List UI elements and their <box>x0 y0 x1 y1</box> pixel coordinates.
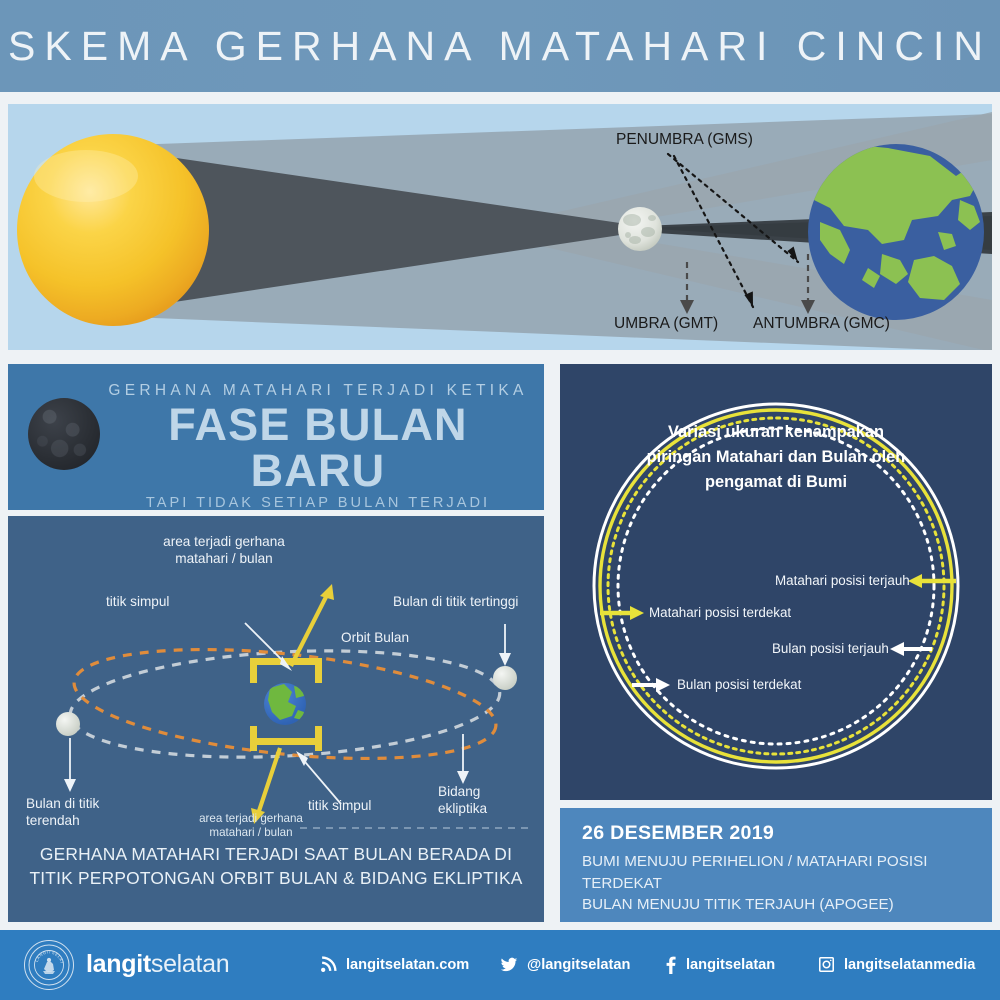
instagram-icon <box>818 956 835 973</box>
page-title: SKEMA GERHANA MATAHARI CINCIN <box>8 23 992 70</box>
apparent-size-variation-panel: Variasi ukuran kenampakan piringan Matah… <box>560 364 992 800</box>
social-instagram-label: langitselatanmedia <box>844 957 975 973</box>
label-sun-nearest: Matahari posisi terdekat <box>649 605 791 620</box>
ecliptic-plane-line1: Bidang <box>438 784 528 801</box>
variation-title-line2: piringan Matahari dan Bulan oleh <box>618 445 934 470</box>
new-moon-line-1: GERHANA MATAHARI TERJADI KETIKA <box>104 382 532 400</box>
variation-title-line3: pengamat di Bumi <box>618 470 934 495</box>
eclipse-geometry-diagram: PENUMBRA (GMS) UMBRA (GMT) ANTUMBRA (GMC… <box>8 104 992 350</box>
event-notes: BUMI MENUJU PERIHELION / MATAHARI POSISI… <box>582 851 972 916</box>
header-banner: SKEMA GERHANA MATAHARI CINCIN <box>0 0 1000 92</box>
orbit-caption-line1: GERHANA MATAHARI TERJADI SAAT BULAN BERA… <box>8 842 544 866</box>
label-eclipse-area-bottom: area terjadi gerhana matahari / bulan <box>186 812 316 840</box>
social-facebook[interactable]: langitselatan <box>665 956 775 974</box>
eclipse-area-bottom-line1: area terjadi gerhana <box>186 812 316 826</box>
social-twitter-label: @langitselatan <box>527 957 630 973</box>
label-moon-lowest: Bulan di titik terendah <box>26 796 130 829</box>
arrow-sun-nearest <box>600 606 644 620</box>
new-moon-headline: FASE BULAN BARU <box>104 402 532 494</box>
ecliptic-plane-line2: ekliptika <box>438 801 528 818</box>
label-moon-nearest: Bulan posisi terdekat <box>677 677 801 692</box>
social-website-label: langitselatan.com <box>346 957 469 973</box>
eclipse-area-arrow-top <box>291 584 334 666</box>
langitselatan-logo-seal: LANGITSELATAN <box>24 940 74 990</box>
social-website[interactable]: langitselatan.com <box>320 956 469 973</box>
arrow-moon-farthest <box>890 642 932 656</box>
moon-lowest-line2: terendah <box>26 813 130 830</box>
logo-seal-icon: LANGITSELATAN <box>27 943 71 987</box>
brand-wordmark: langitselatan <box>86 950 229 979</box>
social-facebook-label: langitselatan <box>686 957 775 973</box>
eclipse-area-top-line2: matahari / bulan <box>149 551 299 568</box>
eclipse-area-bottom-line2: matahari / bulan <box>186 826 316 840</box>
label-node-top: titik simpul <box>106 594 169 611</box>
event-note-line1: BUMI MENUJU PERIHELION / MATAHARI POSISI… <box>582 851 972 894</box>
orbit-panel-caption: GERHANA MATAHARI TERJADI SAAT BULAN BERA… <box>8 842 544 890</box>
label-antumbra: ANTUMBRA (GMC) <box>753 315 890 333</box>
orbit-caption-line2: TITIK PERPOTONGAN ORBIT BULAN & BIDANG E… <box>8 866 544 890</box>
node-leader-bottom <box>300 756 341 804</box>
event-date-panel: 26 DESEMBER 2019 BUMI MENUJU PERIHELION … <box>560 808 992 922</box>
lunar-orbit-diagram-panel: area terjadi gerhana matahari / bulan ti… <box>8 516 544 922</box>
node-marker-top <box>250 658 322 683</box>
label-ecliptic-plane: Bidang ekliptika <box>438 784 528 817</box>
moon-lowest-marker <box>56 712 80 736</box>
social-instagram[interactable]: langitselatanmedia <box>818 956 975 973</box>
brand-bold: langit <box>86 950 151 978</box>
twitter-icon <box>500 956 518 974</box>
label-sun-farthest: Matahari posisi terjauh <box>775 573 910 588</box>
label-orbit-bulan: Orbit Bulan <box>341 630 409 647</box>
event-note-line2: BULAN MENUJU TITIK TERJAUH (APOGEE) <box>582 894 972 916</box>
rss-icon <box>320 956 337 973</box>
variation-title-line1: Variasi ukuran kenampakan <box>618 420 934 445</box>
new-moon-text-block: GERHANA MATAHARI TERJADI KETIKA FASE BUL… <box>104 382 532 510</box>
moon-sphere <box>618 207 662 251</box>
brand-light: selatan <box>151 950 230 978</box>
eclipse-area-top-line1: area terjadi gerhana <box>149 534 299 551</box>
label-eclipse-area-top: area terjadi gerhana matahari / bulan <box>149 534 299 567</box>
moon-highest-marker <box>493 666 517 690</box>
footer-bar: LANGITSELATAN langitselatan langit <box>0 930 1000 1000</box>
label-node-bottom: titik simpul <box>308 798 371 815</box>
facebook-icon <box>665 956 677 974</box>
label-umbra: UMBRA (GMT) <box>614 315 718 333</box>
new-moon-icon <box>28 398 100 470</box>
new-moon-line-3: TAPI TIDAK SETIAP BULAN TERJADI GERHANA <box>104 495 532 510</box>
label-penumbra: PENUMBRA (GMS) <box>616 131 753 149</box>
infographic-root: SKEMA GERHANA MATAHARI CINCIN <box>0 0 1000 1000</box>
label-moon-farthest: Bulan posisi terjauh <box>772 641 889 656</box>
social-twitter[interactable]: @langitselatan <box>500 956 630 974</box>
label-moon-highest: Bulan di titik tertinggi <box>393 594 518 611</box>
moon-lowest-line1: Bulan di titik <box>26 796 130 813</box>
event-date: 26 DESEMBER 2019 <box>582 822 972 845</box>
arrow-sun-farthest <box>908 574 956 588</box>
new-moon-phase-panel: GERHANA MATAHARI TERJADI KETIKA FASE BUL… <box>8 364 544 510</box>
variation-panel-title: Variasi ukuran kenampakan piringan Matah… <box>618 420 934 495</box>
node-marker-bottom <box>250 726 322 751</box>
